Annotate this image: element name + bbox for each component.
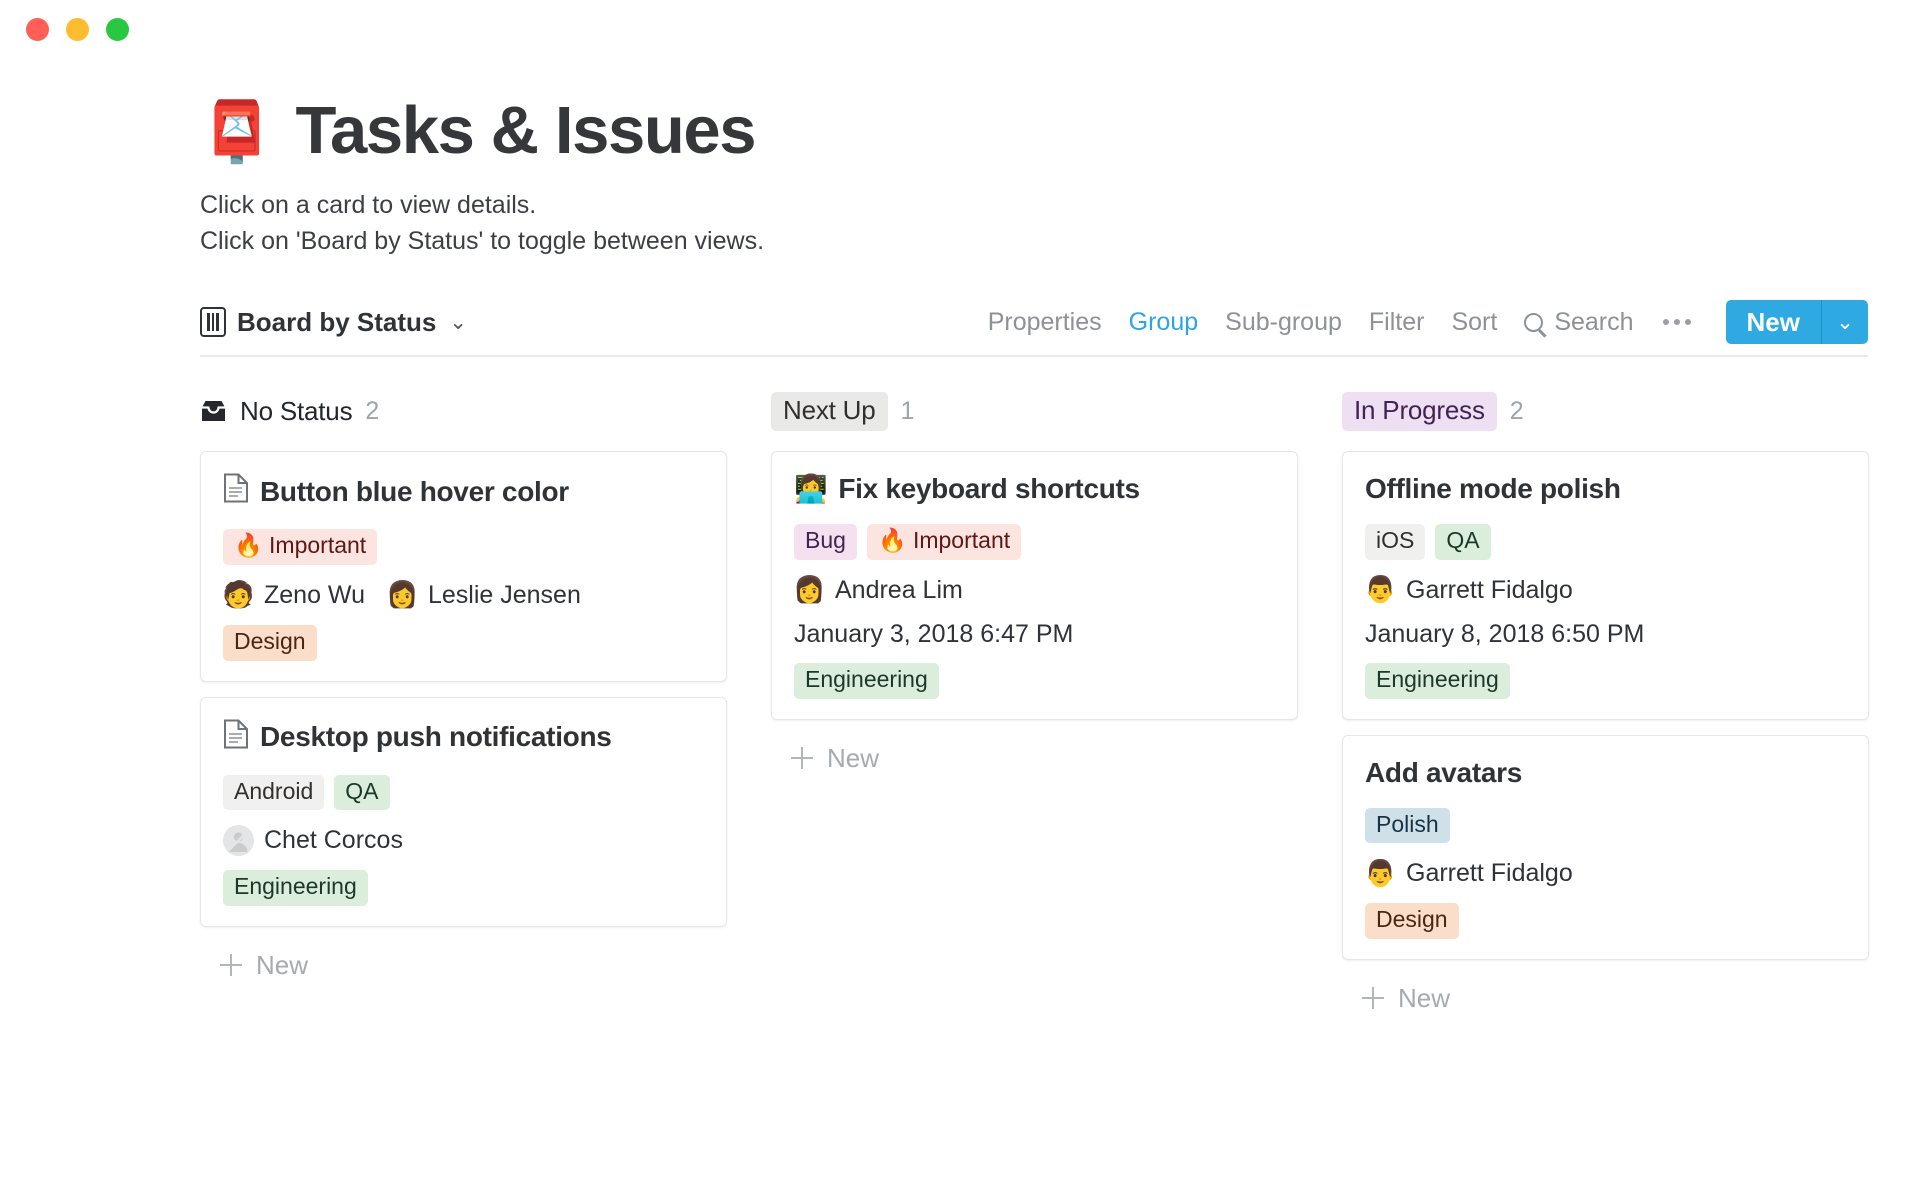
column-header[interactable]: In Progress2 <box>1342 391 1869 431</box>
avatar: 👩 <box>387 580 418 611</box>
column-title: No Status <box>240 396 352 427</box>
tag[interactable]: QA <box>334 775 389 811</box>
tags-row: Polish <box>1365 808 1846 844</box>
board-column: Next Up1👩‍💻Fix keyboard shortcutsBug🔥 Im… <box>771 391 1298 781</box>
task-card[interactable]: 👩‍💻Fix keyboard shortcutsBug🔥 Important👩… <box>771 451 1298 719</box>
card-title: Offline mode polish <box>1365 473 1621 505</box>
assignee-name: Leslie Jensen <box>428 581 581 610</box>
assignees-row: 👩Andrea Lim <box>794 575 1275 606</box>
task-card[interactable]: Add avatarsPolish👨Garrett FidalgoDesign <box>1342 735 1869 960</box>
new-dropdown-chevron-down-icon[interactable]: ⌄ <box>1821 300 1868 344</box>
task-card[interactable]: Desktop push notificationsAndroidQAChet … <box>200 697 727 927</box>
card-title: Fix keyboard shortcuts <box>838 473 1139 505</box>
column-title: Next Up <box>771 392 888 431</box>
chevron-down-icon: ⌄ <box>449 310 467 335</box>
footer_tags-row: Engineering <box>794 663 1275 699</box>
tags-row: 🔥 Important <box>223 529 704 565</box>
toolbar-sort[interactable]: Sort <box>1451 308 1497 337</box>
assignees-row: 👨Garrett Fidalgo <box>1365 858 1846 889</box>
footer_tags-row: Design <box>223 625 704 661</box>
card-title-row: 👩‍💻Fix keyboard shortcuts <box>794 473 1275 505</box>
tags-row: AndroidQA <box>223 775 704 811</box>
task-card[interactable]: Button blue hover color🔥 Important🧑Zeno … <box>200 451 727 681</box>
card-title: Add avatars <box>1365 757 1522 789</box>
board-view-icon <box>200 307 226 337</box>
subtitle-line-2: Click on 'Board by Status' to toggle bet… <box>200 224 1868 260</box>
tag[interactable]: QA <box>1435 524 1490 560</box>
inbox-icon <box>200 399 227 423</box>
assignee-name: Andrea Lim <box>835 576 963 605</box>
assignees-row: Chet Corcos <box>223 825 704 856</box>
kanban-board: No Status2Button blue hover color🔥 Impor… <box>200 391 1868 1021</box>
assignees-row: 👨Garrett Fidalgo <box>1365 575 1846 606</box>
card-title-row: Offline mode polish <box>1365 473 1846 505</box>
add-new-card-button[interactable]: New <box>200 942 727 989</box>
search-icon <box>1524 313 1543 332</box>
card-title-row: Desktop push notifications <box>223 719 704 756</box>
new-button-group: New ⌄ <box>1726 300 1868 344</box>
column-header[interactable]: Next Up1 <box>771 391 1298 431</box>
tag[interactable]: Polish <box>1365 808 1450 844</box>
page-header: 📮 Tasks & Issues <box>200 96 1868 166</box>
plus-icon <box>220 954 242 976</box>
column-count: 2 <box>365 397 379 426</box>
page-subtitle: Click on a card to view details. Click o… <box>200 188 1868 259</box>
card-title-row: Add avatars <box>1365 757 1846 789</box>
toolbar-group[interactable]: Group <box>1129 308 1198 337</box>
plus-icon <box>791 747 813 769</box>
add-new-card-label: New <box>827 743 879 774</box>
column-count: 2 <box>1510 397 1524 426</box>
assignee-name: Garrett Fidalgo <box>1406 576 1573 605</box>
avatar: 👨 <box>1365 858 1396 889</box>
document-icon <box>223 719 249 756</box>
close-button[interactable] <box>26 18 49 41</box>
card-title-row: Button blue hover color <box>223 473 704 510</box>
search-label: Search <box>1554 308 1633 337</box>
tag[interactable]: Engineering <box>223 870 368 906</box>
window-titlebar <box>0 0 1920 58</box>
card-title: Button blue hover color <box>260 476 569 508</box>
toolbar-sub-group[interactable]: Sub-group <box>1225 308 1342 337</box>
board-column: In Progress2Offline mode polishiOSQA👨Gar… <box>1342 391 1869 1021</box>
add-new-card-button[interactable]: New <box>771 735 1298 782</box>
toolbar-filter[interactable]: Filter <box>1369 308 1425 337</box>
tags-row: iOSQA <box>1365 524 1846 560</box>
column-header[interactable]: No Status2 <box>200 391 727 431</box>
add-new-card-button[interactable]: New <box>1342 975 1869 1022</box>
avatar: 👨 <box>1365 575 1396 606</box>
subtitle-line-1: Click on a card to view details. <box>200 188 1868 224</box>
assignees-row: 🧑Zeno Wu👩Leslie Jensen <box>223 580 704 611</box>
minimize-button[interactable] <box>66 18 89 41</box>
column-title: In Progress <box>1342 392 1497 431</box>
tag[interactable]: Design <box>1365 903 1459 939</box>
card-emoji-icon: 👩‍💻 <box>794 476 827 503</box>
view-switcher-board-by-status[interactable]: Board by Status ⌄ <box>200 307 467 338</box>
toolbar-properties[interactable]: Properties <box>988 308 1102 337</box>
add-new-card-label: New <box>1398 983 1450 1014</box>
task-card[interactable]: Offline mode polishiOSQA👨Garrett Fidalgo… <box>1342 451 1869 719</box>
tags-row: Bug🔥 Important <box>794 524 1275 560</box>
assignee-name: Zeno Wu <box>264 581 365 610</box>
tag[interactable]: iOS <box>1365 524 1425 560</box>
toolbar-actions: Properties Group Sub-group Filter Sort S… <box>988 300 1868 344</box>
search-button[interactable]: Search <box>1524 308 1633 337</box>
avatar <box>223 825 254 856</box>
avatar: 🧑 <box>223 580 254 611</box>
page-title: Tasks & Issues <box>295 96 755 166</box>
tag[interactable]: Android <box>223 775 324 811</box>
zoom-button[interactable] <box>106 18 129 41</box>
tag[interactable]: Design <box>223 625 317 661</box>
footer_tags-row: Engineering <box>1365 663 1846 699</box>
more-options-icon[interactable] <box>1661 319 1693 325</box>
tag[interactable]: Engineering <box>1365 663 1510 699</box>
tag[interactable]: 🔥 Important <box>223 529 377 565</box>
footer_tags-row: Design <box>1365 903 1846 939</box>
assignee[interactable]: 👩Leslie Jensen <box>387 580 581 611</box>
view-switcher-label: Board by Status <box>237 307 436 338</box>
plus-icon <box>1362 987 1384 1009</box>
card-date: January 3, 2018 6:47 PM <box>794 620 1275 649</box>
footer_tags-row: Engineering <box>223 870 704 906</box>
avatar: 👩 <box>794 575 825 606</box>
assignee[interactable]: Chet Corcos <box>223 825 403 856</box>
assignee[interactable]: 👨Garrett Fidalgo <box>1365 575 1573 606</box>
assignee-name: Chet Corcos <box>264 826 403 855</box>
page: 📮 Tasks & Issues Click on a card to view… <box>0 96 1920 1022</box>
tag[interactable]: Engineering <box>794 663 939 699</box>
card-title: Desktop push notifications <box>260 721 612 753</box>
add-new-card-label: New <box>256 950 308 981</box>
assignee-name: Garrett Fidalgo <box>1406 859 1573 888</box>
new-button[interactable]: New <box>1726 300 1821 344</box>
board-column: No Status2Button blue hover color🔥 Impor… <box>200 391 727 988</box>
assignee[interactable]: 👨Garrett Fidalgo <box>1365 858 1573 889</box>
tag[interactable]: Bug <box>794 524 857 560</box>
view-toolbar: Board by Status ⌄ Properties Group Sub-g… <box>200 295 1868 357</box>
column-count: 1 <box>901 397 915 426</box>
card-date: January 8, 2018 6:50 PM <box>1365 620 1846 649</box>
document-icon <box>223 473 249 510</box>
tag[interactable]: 🔥 Important <box>867 524 1021 560</box>
window-controls <box>26 18 129 41</box>
assignee[interactable]: 👩Andrea Lim <box>794 575 963 606</box>
assignee[interactable]: 🧑Zeno Wu <box>223 580 365 611</box>
postbox-icon: 📮 <box>200 102 273 161</box>
